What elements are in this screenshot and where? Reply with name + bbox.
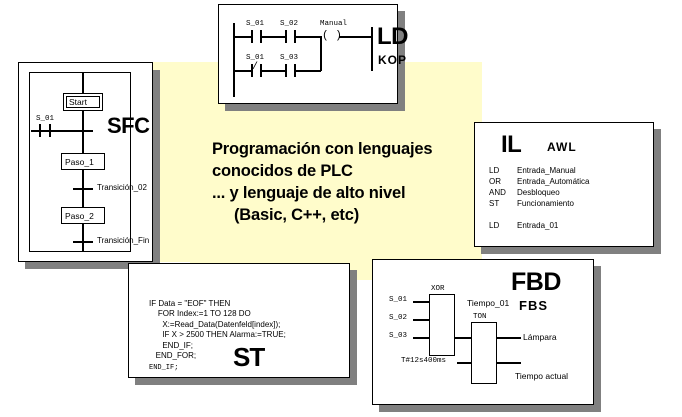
center-headline-line-2: conocidos de PLC <box>212 160 470 182</box>
il-instruction-2-op: OR <box>489 176 517 187</box>
il-blank-line <box>489 209 590 220</box>
il-instruction-3-arg: Desbloqueo <box>517 187 560 198</box>
il-instruction-list: LD Entrada_Manual OR Entrada_Automática … <box>489 165 590 231</box>
fbd-subtitle: FBS <box>519 298 548 313</box>
center-headline-line-4: (Basic, C++, etc) <box>212 204 470 226</box>
st-code-line-4: IF X > 2500 THEN Alarma:=TRUE; <box>149 330 286 339</box>
il-instruction-1-op: LD <box>489 165 517 176</box>
sfc-contact-pin-1 <box>39 124 41 137</box>
fbd-output-1-wire <box>497 337 521 339</box>
st-card-shadow-right <box>350 270 357 385</box>
st-panel[interactable]: IF Data = "EOF" THEN FOR Index:=1 TO 128… <box>128 263 350 378</box>
ld-rung1-wire-b <box>260 36 285 38</box>
sfc-initial-step[interactable]: Start <box>63 93 103 111</box>
sfc-transition-bar-1 <box>73 188 93 190</box>
ld-rung2-wire-b <box>260 70 285 72</box>
ld-right-rail <box>371 27 373 71</box>
il-instruction-3-op: AND <box>489 187 517 198</box>
st-code-line-7: END_IF; <box>149 364 178 372</box>
sfc-initial-step-label: Start <box>67 97 87 107</box>
ld-left-rail <box>233 23 235 97</box>
il-instruction-1-arg: Entrada_Manual <box>517 165 576 176</box>
fbd-output-2-wire <box>497 362 521 364</box>
sfc-title: SFC <box>107 113 150 139</box>
fbd-panel[interactable]: FBD FBS XOR S_01 S_02 S_03 TON Tiempo_01… <box>372 259 594 405</box>
ld-panel[interactable]: S_01 S_02 Manual ( ) / S_01 S_03 LD KOP <box>218 4 398 104</box>
il-instruction-row: LD Entrada_01 <box>489 220 590 231</box>
ld-rung1-wire-d <box>339 36 372 38</box>
st-code-line-2: FOR Index:=1 TO 128 DO <box>149 309 251 318</box>
st-code-line-6: END_FOR; <box>149 351 196 360</box>
center-headline: Programación con lenguajes conocidos de … <box>212 138 470 226</box>
ld-branch-connector <box>320 36 322 71</box>
st-title: ST <box>233 342 264 373</box>
il-instruction-row: LD Entrada_Manual <box>489 165 590 176</box>
ld-rung1-wire-a <box>233 36 251 38</box>
fbd-xor-block[interactable] <box>429 294 455 356</box>
st-code-line-1: IF Data = "EOF" THEN <box>149 299 230 308</box>
fbd-time-literal-label: T#12s400ms <box>401 357 446 365</box>
il-instruction-4-op: ST <box>489 198 517 209</box>
fbd-card-shadow-bottom <box>379 405 601 412</box>
sfc-spine-top <box>82 73 84 93</box>
sfc-transition-2-label: Transición_Fin <box>97 236 149 245</box>
fbd-xor-block-label: XOR <box>431 285 445 293</box>
fbd-input-3-label: S_03 <box>389 332 407 340</box>
ld-title: LD <box>377 23 408 51</box>
fbd-input-2-label: S_02 <box>389 314 407 322</box>
sfc-spine-c <box>82 224 84 252</box>
il-instruction-row: OR Entrada_Automática <box>489 176 590 187</box>
sfc-contact-wire-left <box>31 130 73 132</box>
fbd-output-1-label: Lámpara <box>523 332 557 342</box>
il-subtitle: AWL <box>547 140 577 154</box>
fbd-input-1-wire <box>413 301 429 303</box>
center-headline-line-3: ... y lenguaje de alto nivel <box>212 182 470 204</box>
il-card-shadow-right <box>654 129 661 254</box>
st-code-line-3: X:=Read_Data(Datenfeld[index]); <box>149 320 280 329</box>
fbd-xor-output-wire <box>455 337 471 339</box>
il-card-shadow-bottom <box>481 247 661 254</box>
plc-languages-graphic: Programación con lenguajes conocidos de … <box>0 0 682 417</box>
il-panel[interactable]: IL AWL LD Entrada_Manual OR Entrada_Auto… <box>474 122 654 247</box>
ld-rung2-contact1-negation-slash: / <box>252 62 258 73</box>
fbd-title: FBD <box>511 268 561 297</box>
sfc-transition-1-label: Transición_02 <box>97 183 147 192</box>
ld-coil-symbol: ( ) <box>322 30 342 42</box>
sfc-transition-bar-2 <box>73 241 93 243</box>
ld-rung1-contact1-label: S_01 <box>246 20 264 28</box>
sfc-transition-bar-0 <box>73 130 93 132</box>
il-instruction-4-arg: Funcionamiento <box>517 198 574 209</box>
center-headline-line-1: Programación con lenguajes <box>212 138 470 160</box>
fbd-time-literal-wire <box>457 362 471 364</box>
sfc-spine-a <box>82 111 84 153</box>
ld-rung1-wire-c <box>294 36 320 38</box>
fbd-output-2-label: Tiempo actual <box>515 371 568 381</box>
sfc-panel[interactable]: Start S_01 Paso_1 Transición_02 Paso_2 T… <box>18 62 153 262</box>
fbd-card-shadow-right <box>594 266 601 412</box>
ld-card-shadow-bottom <box>225 104 405 111</box>
ld-rung1-contact2-pin1 <box>285 30 287 43</box>
sfc-contact-pin-2 <box>49 124 51 137</box>
ld-coil-label: Manual <box>320 20 347 28</box>
fbd-ton-block-label: TON <box>473 313 487 321</box>
ld-rung2-contact2-pin1 <box>285 64 287 77</box>
ld-rung1-contact1-pin1 <box>251 30 253 43</box>
il-instruction-row: ST Funcionamiento <box>489 198 590 209</box>
ld-rung2-wire-c <box>294 70 321 72</box>
fbd-input-2-wire <box>413 319 429 321</box>
st-code-line-5: END_IF; <box>149 341 193 350</box>
sfc-contact-label: S_01 <box>36 115 54 123</box>
fbd-input-3-wire <box>413 337 429 339</box>
sfc-step-2[interactable]: Paso_2 <box>61 207 105 224</box>
sfc-card-shadow-right <box>153 70 160 270</box>
ld-rung2-contact1-label: S_01 <box>246 54 264 62</box>
sfc-step-1-label: Paso_1 <box>65 157 94 167</box>
sfc-step-2-label: Paso_2 <box>65 211 94 221</box>
il-instruction-row: AND Desbloqueo <box>489 187 590 198</box>
sfc-step-1[interactable]: Paso_1 <box>61 153 105 170</box>
fbd-ton-block[interactable] <box>471 322 497 384</box>
il-instruction-5-op: LD <box>489 220 517 231</box>
fbd-ton-instance-label: Tiempo_01 <box>467 298 509 308</box>
fbd-input-1-label: S_01 <box>389 296 407 304</box>
ld-rung1-contact2-label: S_02 <box>280 20 298 28</box>
il-title: IL <box>501 131 521 159</box>
il-instruction-5-arg: Entrada_01 <box>517 220 558 231</box>
ld-subtitle: KOP <box>378 53 407 67</box>
ld-rung2-wire-a <box>233 70 251 72</box>
il-instruction-2-arg: Entrada_Automática <box>517 176 590 187</box>
st-code-block: IF Data = "EOF" THEN FOR Index:=1 TO 128… <box>149 288 286 384</box>
ld-rung2-contact2-label: S_03 <box>280 54 298 62</box>
